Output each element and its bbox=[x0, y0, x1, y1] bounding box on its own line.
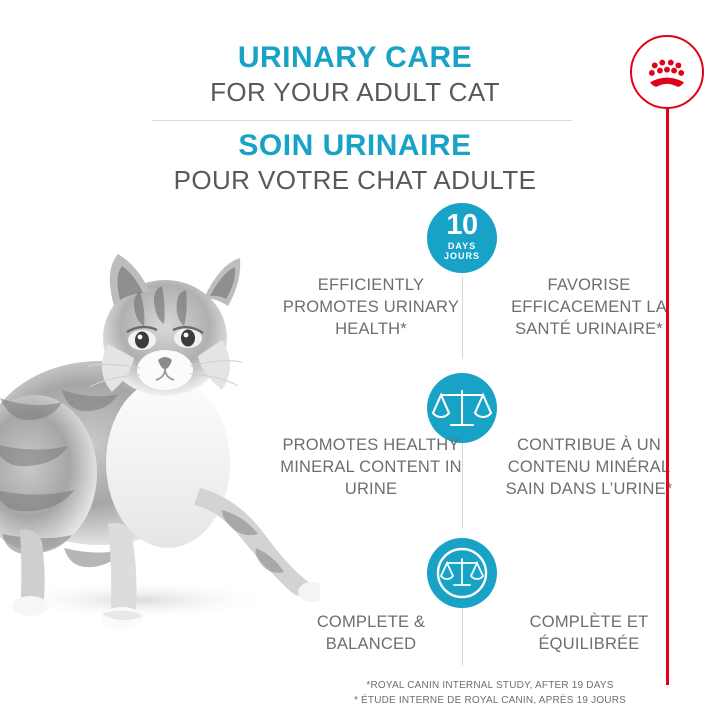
benefit-text-en: EFFICIENTLY PROMOTES URINARY HEALTH* bbox=[280, 275, 462, 341]
benefit-text-en: COMPLETE & BALANCED bbox=[280, 612, 462, 656]
days-badge-icon: 10 DAYS JOURS bbox=[427, 203, 497, 273]
days-badge-number: 10 bbox=[427, 211, 497, 240]
cat-photo bbox=[0, 248, 320, 648]
footnotes: *ROYAL CANIN INTERNAL STUDY, AFTER 19 DA… bbox=[330, 679, 650, 708]
footnote-en: *ROYAL CANIN INTERNAL STUDY, AFTER 19 DA… bbox=[330, 679, 650, 694]
page-title-fr: SOIN URINAIRE bbox=[120, 128, 590, 163]
page-title-en: URINARY CARE bbox=[120, 40, 590, 75]
heading-block-en: URINARY CARE FOR YOUR ADULT CAT bbox=[120, 40, 590, 109]
days-badge-label-fr: JOURS bbox=[427, 251, 497, 261]
heading-block-fr: SOIN URINAIRE POUR VOTRE CHAT ADULTE bbox=[120, 128, 590, 197]
product-feature-panel: URINARY CARE FOR YOUR ADULT CAT SOIN URI… bbox=[0, 0, 720, 720]
benefit-text-en: PROMOTES HEALTHY MINERAL CONTENT IN URIN… bbox=[280, 435, 462, 501]
benefit-text-fr: CONTRIBUE À UN CONTENU MINÉRAL SAIN DANS… bbox=[498, 435, 680, 501]
footnote-fr: * ÉTUDE INTERNE DE ROYAL CANIN, APRÈS 19… bbox=[330, 694, 650, 709]
page-subtitle-en: FOR YOUR ADULT CAT bbox=[120, 77, 590, 108]
language-divider bbox=[152, 120, 572, 121]
balance-scales-icon bbox=[427, 373, 497, 443]
days-badge-label-en: DAYS bbox=[427, 241, 497, 251]
benefit-row: EFFICIENTLY PROMOTES URINARY HEALTH* FAV… bbox=[280, 275, 680, 341]
benefit-text-fr: COMPLÈTE ET ÉQUILIBRÉE bbox=[498, 612, 680, 656]
benefit-row: COMPLETE & BALANCED COMPLÈTE ET ÉQUILIBR… bbox=[280, 612, 680, 656]
page-subtitle-fr: POUR VOTRE CHAT ADULTE bbox=[120, 165, 590, 196]
benefit-text-fr: FAVORISE EFFICACEMENT LA SANTÉ URINAIRE* bbox=[498, 275, 680, 341]
balance-scales-ring-icon bbox=[427, 538, 497, 608]
brand-logo-stem bbox=[666, 107, 669, 685]
royal-canin-crown-logo bbox=[630, 35, 704, 109]
benefit-row: PROMOTES HEALTHY MINERAL CONTENT IN URIN… bbox=[280, 435, 680, 501]
